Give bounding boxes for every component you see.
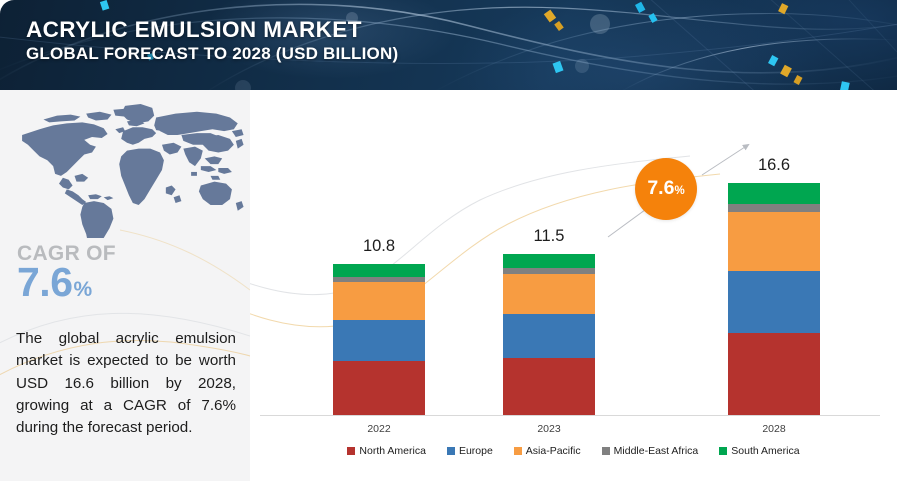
page-subtitle: GLOBAL FORECAST TO 2028 (USD BILLION) <box>26 44 398 64</box>
bar-segment-asia-pacific <box>503 274 595 315</box>
bar-segment-asia-pacific <box>333 282 425 320</box>
callout-percent-sign: % <box>674 186 684 198</box>
chart-panel: 10.8202211.5202316.62028 7.6 % North Ame… <box>250 90 897 481</box>
x-axis-tick-2023: 2023 <box>503 423 595 435</box>
legend-swatch-icon <box>447 447 455 455</box>
legend-item-south-america[interactable]: South America <box>719 445 799 457</box>
bar-segment-asia-pacific <box>728 212 820 271</box>
bar-segment-europe <box>728 271 820 332</box>
legend-item-north-america[interactable]: North America <box>347 445 426 457</box>
cagr-value: 7.6 <box>17 262 73 303</box>
bar-segment-south-america <box>503 254 595 268</box>
bar-segment-north-america <box>503 358 595 415</box>
legend-item-middle-east-africa[interactable]: Middle-East Africa <box>602 445 699 457</box>
world-map-svg <box>8 102 246 238</box>
legend-swatch-icon <box>347 447 355 455</box>
cagr-percent-sign: % <box>74 278 93 302</box>
legend-label: South America <box>731 445 799 457</box>
legend-swatch-icon <box>719 447 727 455</box>
chart-legend: North AmericaEuropeAsia-PacificMiddle-Ea… <box>250 445 897 457</box>
legend-label: Asia-Pacific <box>526 445 581 457</box>
cagr-callout-bubble: 7.6 % <box>635 158 697 220</box>
cagr-value-row: 7.6 % <box>17 262 92 303</box>
bar-segment-south-america <box>728 183 820 204</box>
header-banner: ACRYLIC EMULSION MARKET GLOBAL FORECAST … <box>0 0 897 90</box>
bar-segment-middle-east-africa <box>728 204 820 212</box>
bar-2022 <box>333 264 425 415</box>
callout-value: 7.6 <box>647 158 674 199</box>
bar-2023 <box>503 254 595 415</box>
legend-item-asia-pacific[interactable]: Asia-Pacific <box>514 445 581 457</box>
bar-segment-north-america <box>333 361 425 416</box>
bar-value-label-2023: 11.5 <box>503 227 595 246</box>
bar-segment-europe <box>333 320 425 361</box>
bar-segment-europe <box>503 314 595 357</box>
sidebar-panel: CAGR OF 7.6 % The global acrylic emulsio… <box>0 90 250 481</box>
x-axis-tick-2028: 2028 <box>728 423 820 435</box>
header-text-block: ACRYLIC EMULSION MARKET GLOBAL FORECAST … <box>26 17 398 65</box>
x-axis-tick-2022: 2022 <box>333 423 425 435</box>
plot-area: 10.8202211.5202316.62028 7.6 % North Ame… <box>250 90 897 481</box>
legend-label: Middle-East Africa <box>614 445 699 457</box>
legend-item-europe[interactable]: Europe <box>447 445 493 457</box>
legend-label: Europe <box>459 445 493 457</box>
world-map-icon <box>8 102 246 238</box>
bar-2028 <box>728 183 820 415</box>
legend-swatch-icon <box>514 447 522 455</box>
infographic-root: ACRYLIC EMULSION MARKET GLOBAL FORECAST … <box>0 0 897 481</box>
legend-swatch-icon <box>602 447 610 455</box>
bar-segment-south-america <box>333 264 425 277</box>
sidebar-description: The global acrylic emulsion market is ex… <box>16 328 236 440</box>
bar-value-label-2022: 10.8 <box>333 237 425 256</box>
page-title: ACRYLIC EMULSION MARKET <box>26 17 398 42</box>
legend-label: North America <box>359 445 426 457</box>
bar-segment-north-america <box>728 333 820 415</box>
bar-value-label-2028: 16.6 <box>728 156 820 175</box>
